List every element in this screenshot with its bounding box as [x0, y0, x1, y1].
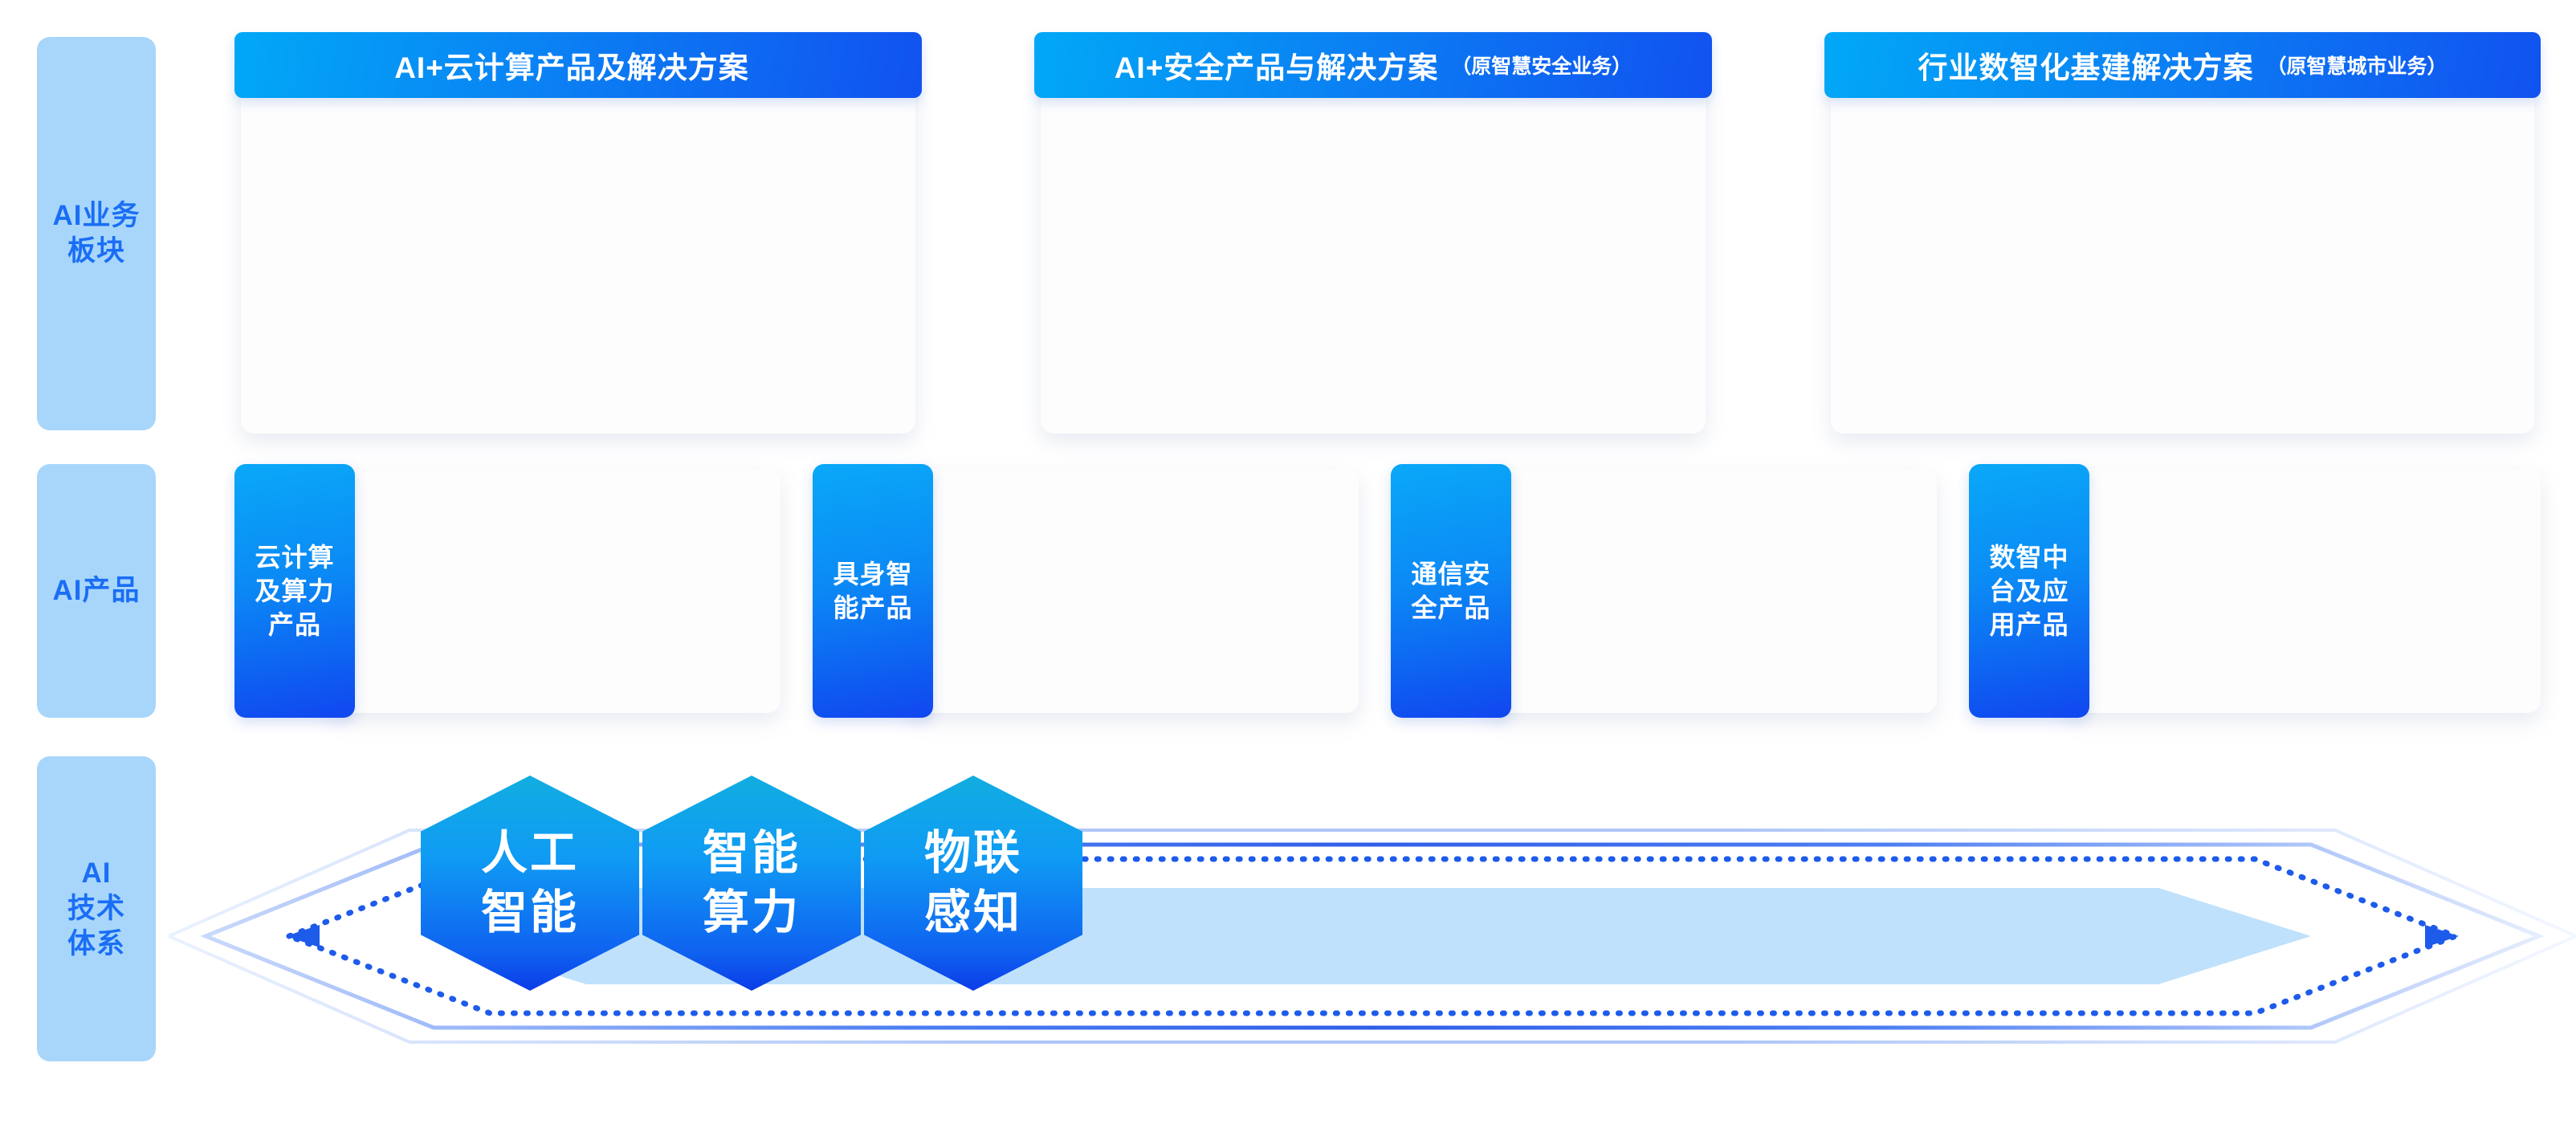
product-group-tag: 具身智 能产品: [813, 464, 933, 718]
product-group-tag: 云计算 及算力 产品: [234, 464, 355, 718]
product-group[interactable]: 具身智 能产品 电磁科技系列产品 安防机器人系列产品 无人机及低空应用 ……: [813, 464, 1359, 718]
tech-hexagon-line-top: 物联: [924, 826, 1022, 881]
product-group[interactable]: 通信安 全产品 无线信号探测产品 无线信号定位产品 无线信号分析产品 公安大数据…: [1391, 464, 1937, 718]
tech-hexagon-line-top: 智能: [703, 826, 801, 881]
business-card-header: 行业数智化基建解决方案 （原智慧城市业务）: [1824, 32, 2541, 98]
business-card-header: AI+安全产品与解决方案 （原智慧安全业务）: [1034, 32, 1712, 98]
business-card[interactable]: AI+安全产品与解决方案 （原智慧安全业务） 以人工智能、机器人、电磁科技等为代…: [1034, 32, 1712, 434]
rail-label-ai-tech: AI 技术 体系: [37, 756, 156, 1061]
product-group-body: [329, 469, 781, 713]
product-group-tag: 数智中 台及应 用产品: [1969, 464, 2089, 718]
business-card-header: AI+云计算产品及解决方案: [234, 32, 922, 98]
product-group-body: [2064, 469, 2541, 713]
product-group[interactable]: 云计算 及算力 产品 AI超融合一体机 AI智算和应用平台 私有云计算系列产品 …: [234, 464, 781, 718]
tech-hexagon-line-bottom: 智能: [481, 886, 579, 940]
business-card-title: AI+云计算产品及解决方案: [394, 43, 749, 87]
tech-hexagon-line-top: 人工: [481, 826, 579, 881]
business-card-title: AI+安全产品与解决方案: [1115, 43, 1439, 87]
product-group[interactable]: 数智中 台及应 用产品 城市信息模型平台 物联统一管理平台 融合通信平台 视频共…: [1969, 464, 2541, 718]
business-card-subtitle: （原智慧安全业务）: [1451, 51, 1632, 79]
rail-label-ai-business: AI业务 板块: [37, 37, 156, 430]
business-card-body: [1831, 79, 2534, 434]
business-card[interactable]: 行业数智化基建解决方案 （原智慧城市业务） 人工智能技术的飞速发展，正在“倒逼”…: [1824, 32, 2541, 434]
diagram-canvas: AI业务 板块 AI产品 AI 技术 体系 AI+云计算产品及解决方案 以大模型…: [0, 0, 2576, 1124]
business-card-body: [1041, 79, 1706, 434]
business-card-subtitle: （原智慧城市业务）: [2266, 51, 2447, 79]
business-card-title: 行业数智化基建解决方案: [1918, 43, 2253, 87]
tech-hexagon-line-bottom: 算力: [703, 886, 801, 940]
business-card-body: [241, 79, 915, 434]
business-card[interactable]: AI+云计算产品及解决方案 以大模型为代表的AI技术蓬勃发展，云计算和算力基础设…: [234, 32, 922, 434]
tech-system-band: 人工 智能 智能 算力 物联 感知: [169, 747, 2576, 1124]
tech-hexagon-line-bottom: 感知: [924, 886, 1022, 940]
product-group-body: [907, 469, 1359, 713]
product-group-body: [1486, 469, 1937, 713]
rail-label-ai-product: AI产品: [37, 464, 156, 718]
product-group-tag: 通信安 全产品: [1391, 464, 1511, 718]
